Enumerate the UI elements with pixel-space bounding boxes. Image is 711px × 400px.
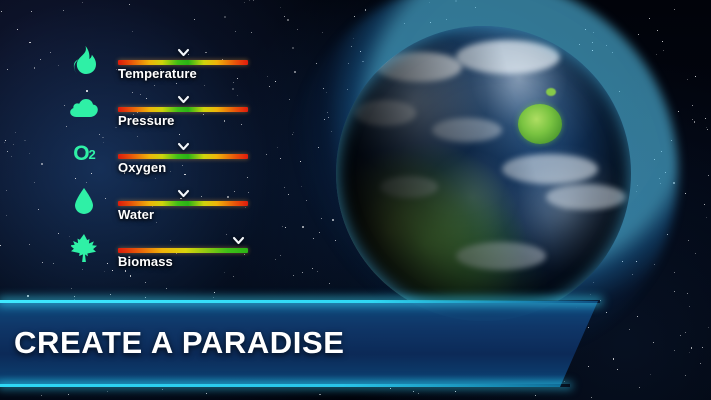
stat-row-pressure[interactable]: Pressure	[66, 87, 276, 134]
oxygen-label: Oxygen	[118, 160, 166, 175]
banner-bottom-edge	[0, 384, 570, 387]
stat-row-oxygen[interactable]: O2 Oxygen	[66, 134, 276, 181]
game-promo-screen: Temperature Pressure O2 Oxygen	[0, 0, 711, 400]
water-marker-icon	[177, 187, 190, 200]
droplet-icon	[66, 183, 102, 219]
headline-text: CREATE A PARADISE	[14, 325, 345, 361]
planet-rim-light	[336, 26, 631, 321]
leaf-icon	[66, 230, 102, 266]
oxygen-bar[interactable]	[118, 154, 248, 159]
stat-row-biomass[interactable]: Biomass	[66, 228, 276, 275]
water-label: Water	[118, 207, 154, 222]
temperature-marker-icon	[177, 46, 190, 59]
o2-icon: O2	[66, 136, 102, 172]
biomass-label: Biomass	[118, 254, 173, 269]
biomass-bar[interactable]	[118, 248, 248, 253]
planet-stats-panel: Temperature Pressure O2 Oxygen	[66, 40, 276, 275]
oxygen-marker-icon	[177, 140, 190, 153]
banner-top-edge	[0, 300, 600, 303]
planet	[318, 8, 648, 338]
pressure-marker-icon	[177, 93, 190, 106]
o2-icon-subscript: 2	[89, 147, 95, 162]
planet-surface	[336, 26, 631, 321]
pressure-label: Pressure	[118, 113, 174, 128]
biomass-marker-icon	[232, 234, 245, 247]
stat-row-temperature[interactable]: Temperature	[66, 40, 276, 87]
temperature-bar[interactable]	[118, 60, 248, 65]
o2-icon-text: O	[73, 142, 88, 166]
temperature-label: Temperature	[118, 66, 197, 81]
flame-icon	[66, 42, 102, 78]
pressure-bar[interactable]	[118, 107, 248, 112]
stat-row-water[interactable]: Water	[66, 181, 276, 228]
water-bar[interactable]	[118, 201, 248, 206]
cloud-icon	[66, 89, 102, 125]
